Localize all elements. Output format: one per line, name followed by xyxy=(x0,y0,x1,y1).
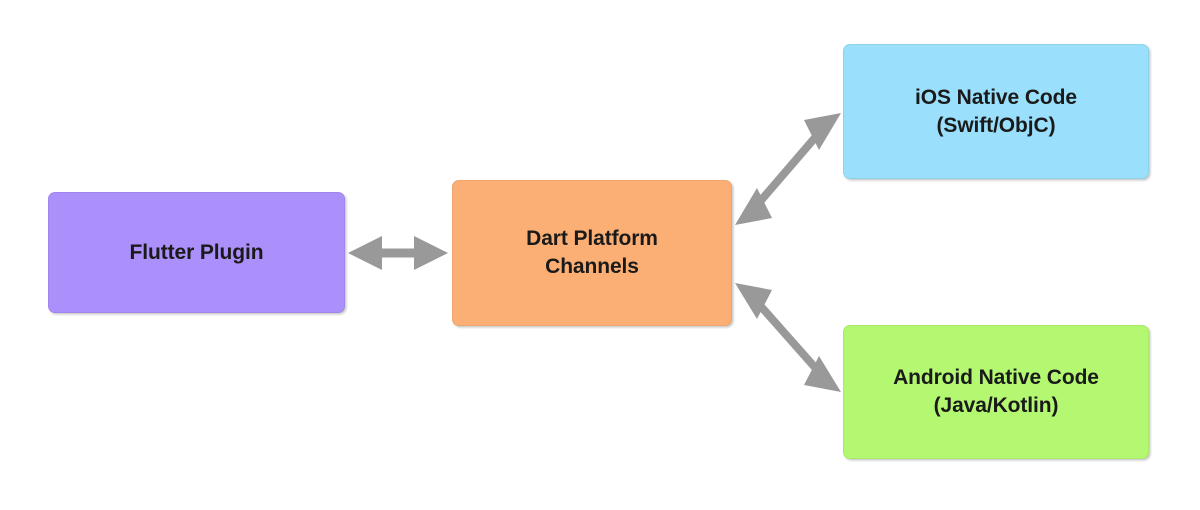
diagram-canvas: Flutter Plugin Dart Platform Channels iO… xyxy=(0,0,1200,510)
edge-channels-to-android xyxy=(735,283,841,392)
edge-channels-to-ios xyxy=(735,113,841,225)
edge-plugin-to-channels-arrowhead-right xyxy=(414,236,448,270)
edge-channels-to-ios-line xyxy=(757,133,819,205)
node-android-native-code-label: Android Native Code (Java/Kotlin) xyxy=(883,364,1109,419)
edge-plugin-to-channels-arrowhead-left xyxy=(348,236,382,270)
node-ios-native-code[interactable]: iOS Native Code (Swift/ObjC) xyxy=(843,44,1149,179)
node-flutter-plugin-label: Flutter Plugin xyxy=(120,239,274,267)
edge-channels-to-android-line xyxy=(757,302,819,372)
node-dart-platform-channels[interactable]: Dart Platform Channels xyxy=(452,180,732,326)
node-ios-native-code-label: iOS Native Code (Swift/ObjC) xyxy=(905,84,1087,139)
edge-plugin-to-channels xyxy=(348,236,448,270)
node-dart-platform-channels-label: Dart Platform Channels xyxy=(516,225,668,280)
node-android-native-code[interactable]: Android Native Code (Java/Kotlin) xyxy=(843,325,1149,459)
node-flutter-plugin[interactable]: Flutter Plugin xyxy=(48,192,345,313)
